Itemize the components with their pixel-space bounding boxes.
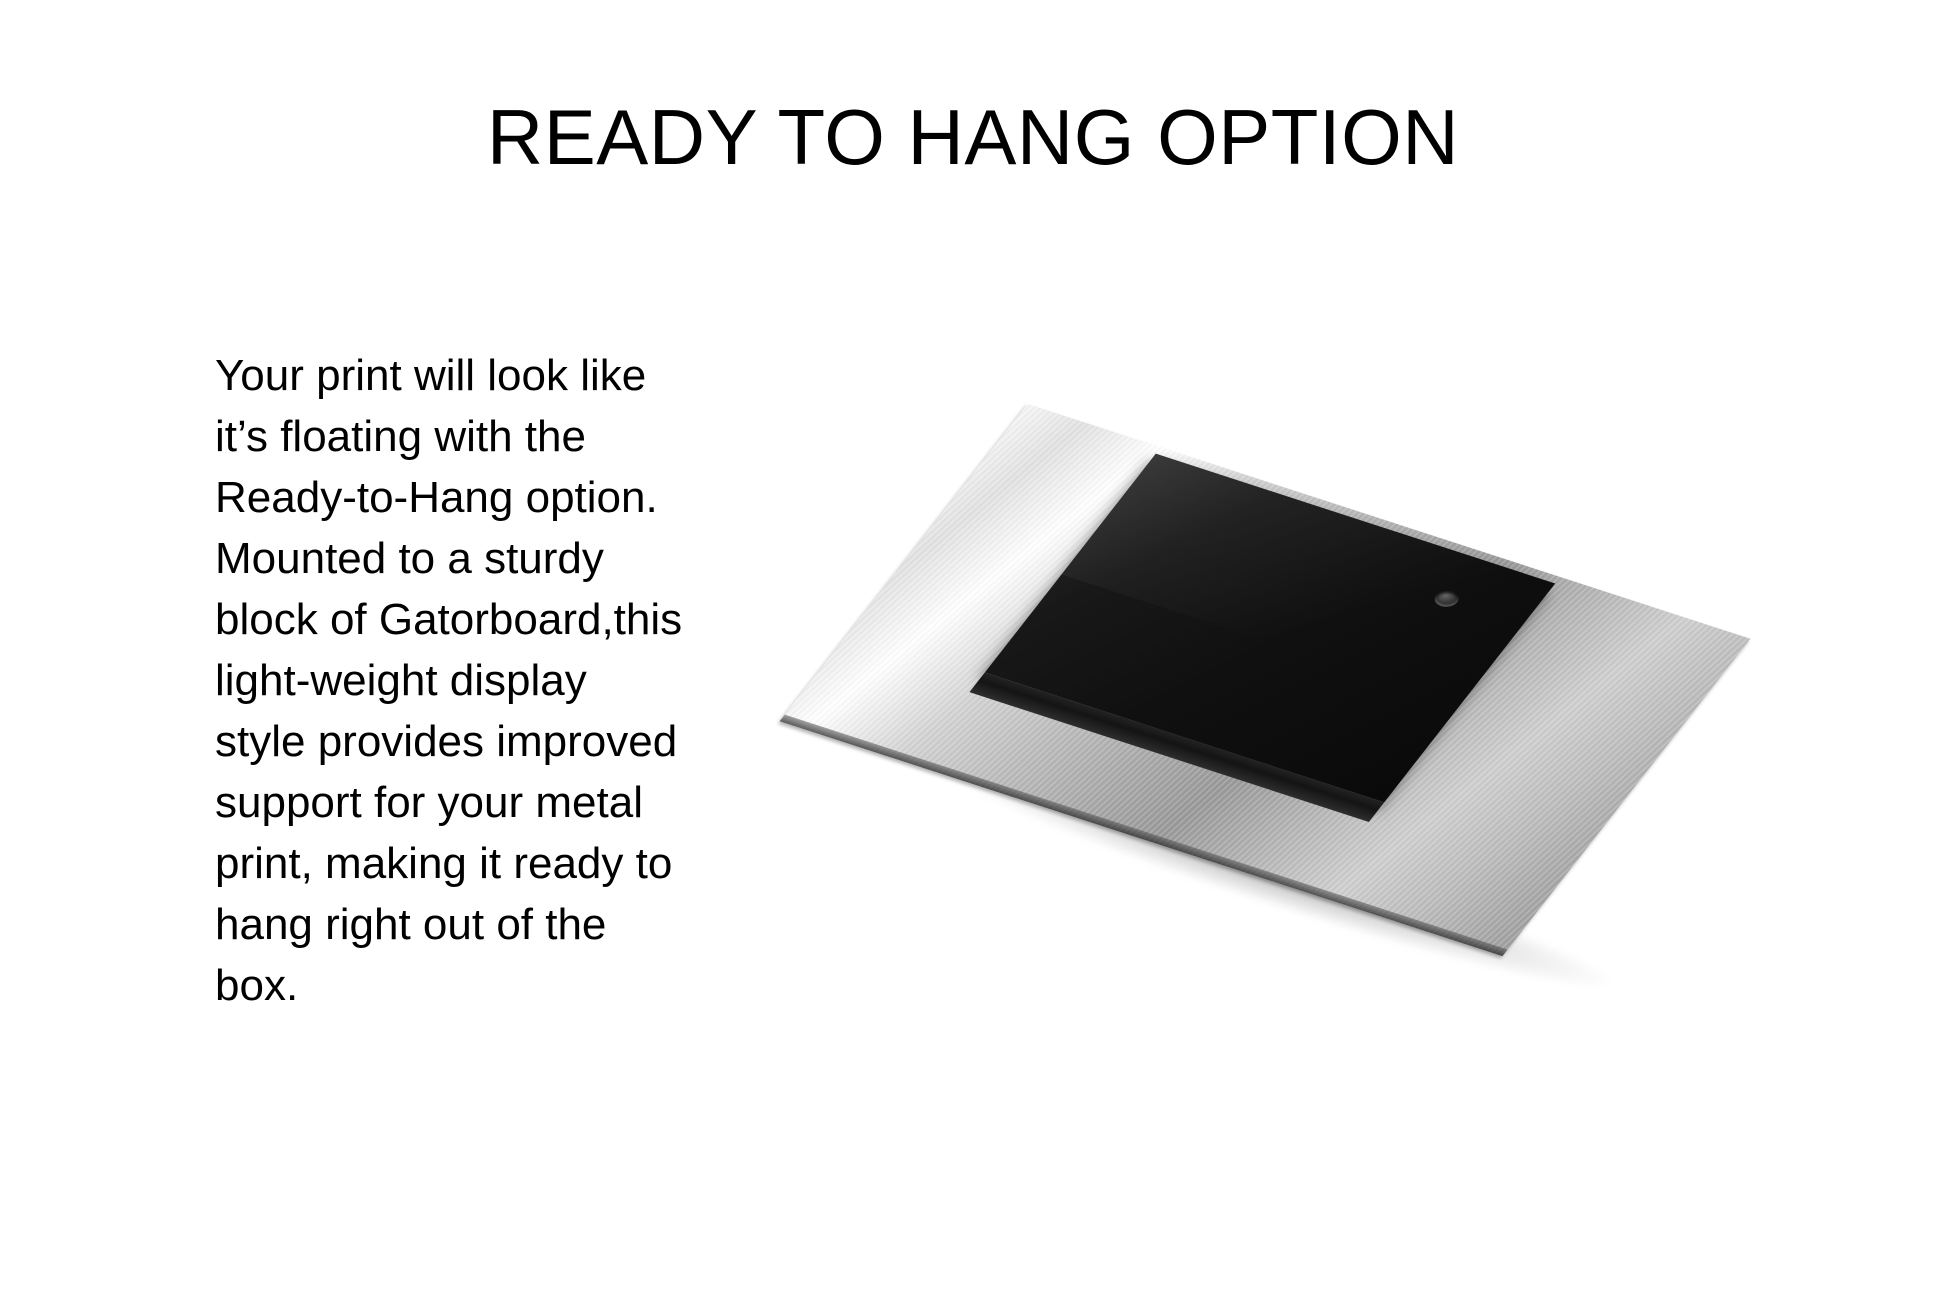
copy-line: hang right out of the [215, 894, 775, 955]
copy-line: support for your metal [215, 772, 775, 833]
copy-line: box. [215, 955, 775, 1016]
copy-line: print, making it ready to [215, 833, 775, 894]
copy-line: Ready-to-Hang option. [215, 467, 775, 528]
slide-canvas: READY TO HANG OPTION Your print will loo… [0, 0, 1946, 1297]
block-highlight [1062, 454, 1555, 704]
copy-line: it’s floating with the [215, 406, 775, 467]
product-photo [845, 455, 1875, 1015]
copy-line: style provides improved [215, 711, 775, 772]
copy-line: light-weight display [215, 650, 775, 711]
page-title: READY TO HANG OPTION [0, 92, 1946, 182]
copy-line: Mounted to a sturdy [215, 528, 775, 589]
description-text-block: Your print will look like it’s floating … [215, 345, 775, 1016]
copy-line: Your print will look like [215, 345, 775, 406]
copy-line: block of Gatorboard,this [215, 589, 775, 650]
